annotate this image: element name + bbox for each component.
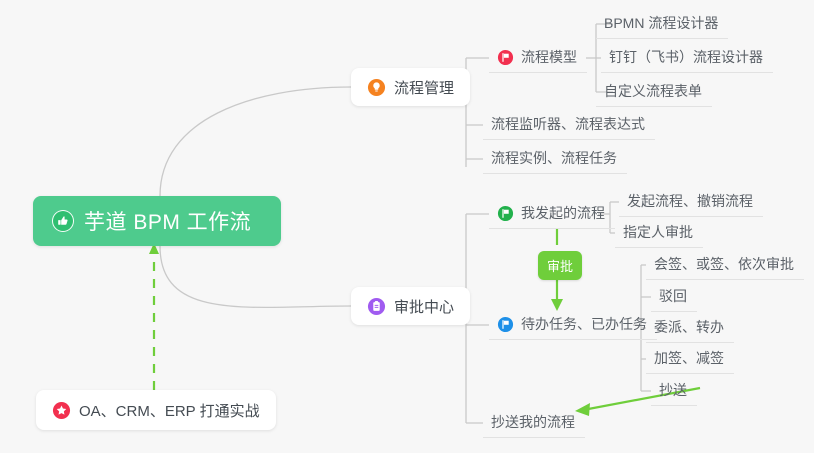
leaf-label: 加签、减签 bbox=[654, 348, 724, 368]
leaf-zhiding[interactable]: 指定人审批 bbox=[615, 217, 703, 248]
leaf-label: 会签、或签、依次审批 bbox=[654, 254, 794, 274]
leaf-jiaqian[interactable]: 加签、减签 bbox=[646, 343, 734, 374]
leaf-label: 抄送我的流程 bbox=[491, 412, 575, 432]
leaf-weipai[interactable]: 委派、转办 bbox=[646, 312, 734, 343]
branch-liucheng-guanli[interactable]: 流程管理 bbox=[351, 68, 470, 106]
leaf-dingding[interactable]: 钉钉（飞书）流程设计器 bbox=[601, 42, 773, 73]
leaf-label: 指定人审批 bbox=[623, 222, 693, 242]
leaf-shili[interactable]: 流程实例、流程任务 bbox=[483, 143, 627, 174]
leaf-label: 自定义流程表单 bbox=[604, 81, 702, 101]
leaf-label: 钉钉（飞书）流程设计器 bbox=[609, 47, 763, 67]
leaf-label: 流程模型 bbox=[521, 47, 577, 67]
leaf-label: 我发起的流程 bbox=[521, 203, 605, 223]
branch-label: 审批中心 bbox=[394, 296, 454, 317]
flag-icon-green bbox=[497, 205, 514, 222]
leaf-bohui[interactable]: 驳回 bbox=[651, 281, 697, 312]
clipboard-icon bbox=[367, 297, 386, 316]
leaf-daiban[interactable]: 待办任务、已办任务 bbox=[489, 309, 657, 340]
leaf-label: 抄送 bbox=[659, 380, 687, 400]
leaf-label: 流程监听器、流程表达式 bbox=[491, 114, 645, 134]
note-label: OA、CRM、ERP 打通实战 bbox=[79, 400, 260, 421]
leaf-chaosong[interactable]: 抄送 bbox=[651, 375, 697, 406]
leaf-label: BPMN 流程设计器 bbox=[604, 13, 718, 33]
link-root-to-shenpi-zhongxin bbox=[160, 246, 351, 307]
leaf-label: 委派、转办 bbox=[654, 317, 724, 337]
flag-icon-red bbox=[497, 49, 514, 66]
root-node[interactable]: 芋道 BPM 工作流 bbox=[33, 196, 281, 246]
leaf-wofaqi[interactable]: 我发起的流程 bbox=[489, 198, 615, 229]
leaf-label: 发起流程、撤销流程 bbox=[627, 191, 753, 211]
leaf-label: 待办任务、已办任务 bbox=[521, 314, 647, 334]
leaf-liucheng-moxing[interactable]: 流程模型 bbox=[489, 42, 587, 73]
thumbs-up-icon bbox=[51, 209, 75, 233]
leaf-jianting[interactable]: 流程监听器、流程表达式 bbox=[483, 109, 655, 140]
leaf-huiqian[interactable]: 会签、或签、依次审批 bbox=[646, 249, 804, 280]
root-label: 芋道 BPM 工作流 bbox=[84, 206, 251, 236]
mindmap-canvas: 芋道 BPM 工作流 流程管理 审批中心 bbox=[0, 0, 814, 453]
link-root-to-liucheng-guanli bbox=[160, 87, 351, 196]
leaf-label: 流程实例、流程任务 bbox=[491, 148, 617, 168]
flag-icon-blue bbox=[497, 316, 514, 333]
lightbulb-icon bbox=[367, 78, 386, 97]
leaf-ziding[interactable]: 自定义流程表单 bbox=[596, 76, 712, 107]
leaf-label: 驳回 bbox=[659, 286, 687, 306]
star-icon bbox=[52, 401, 71, 420]
branch-shenpi-zhongxin[interactable]: 审批中心 bbox=[351, 287, 470, 325]
branch-label: 流程管理 bbox=[394, 77, 454, 98]
note-oa-crm-erp[interactable]: OA、CRM、ERP 打通实战 bbox=[36, 390, 276, 430]
leaf-bpmn[interactable]: BPMN 流程设计器 bbox=[596, 8, 728, 39]
annotation-badge-approval: 审批 bbox=[538, 251, 582, 280]
leaf-faqi[interactable]: 发起流程、撤销流程 bbox=[619, 186, 763, 217]
leaf-chaosongwode[interactable]: 抄送我的流程 bbox=[483, 407, 585, 438]
